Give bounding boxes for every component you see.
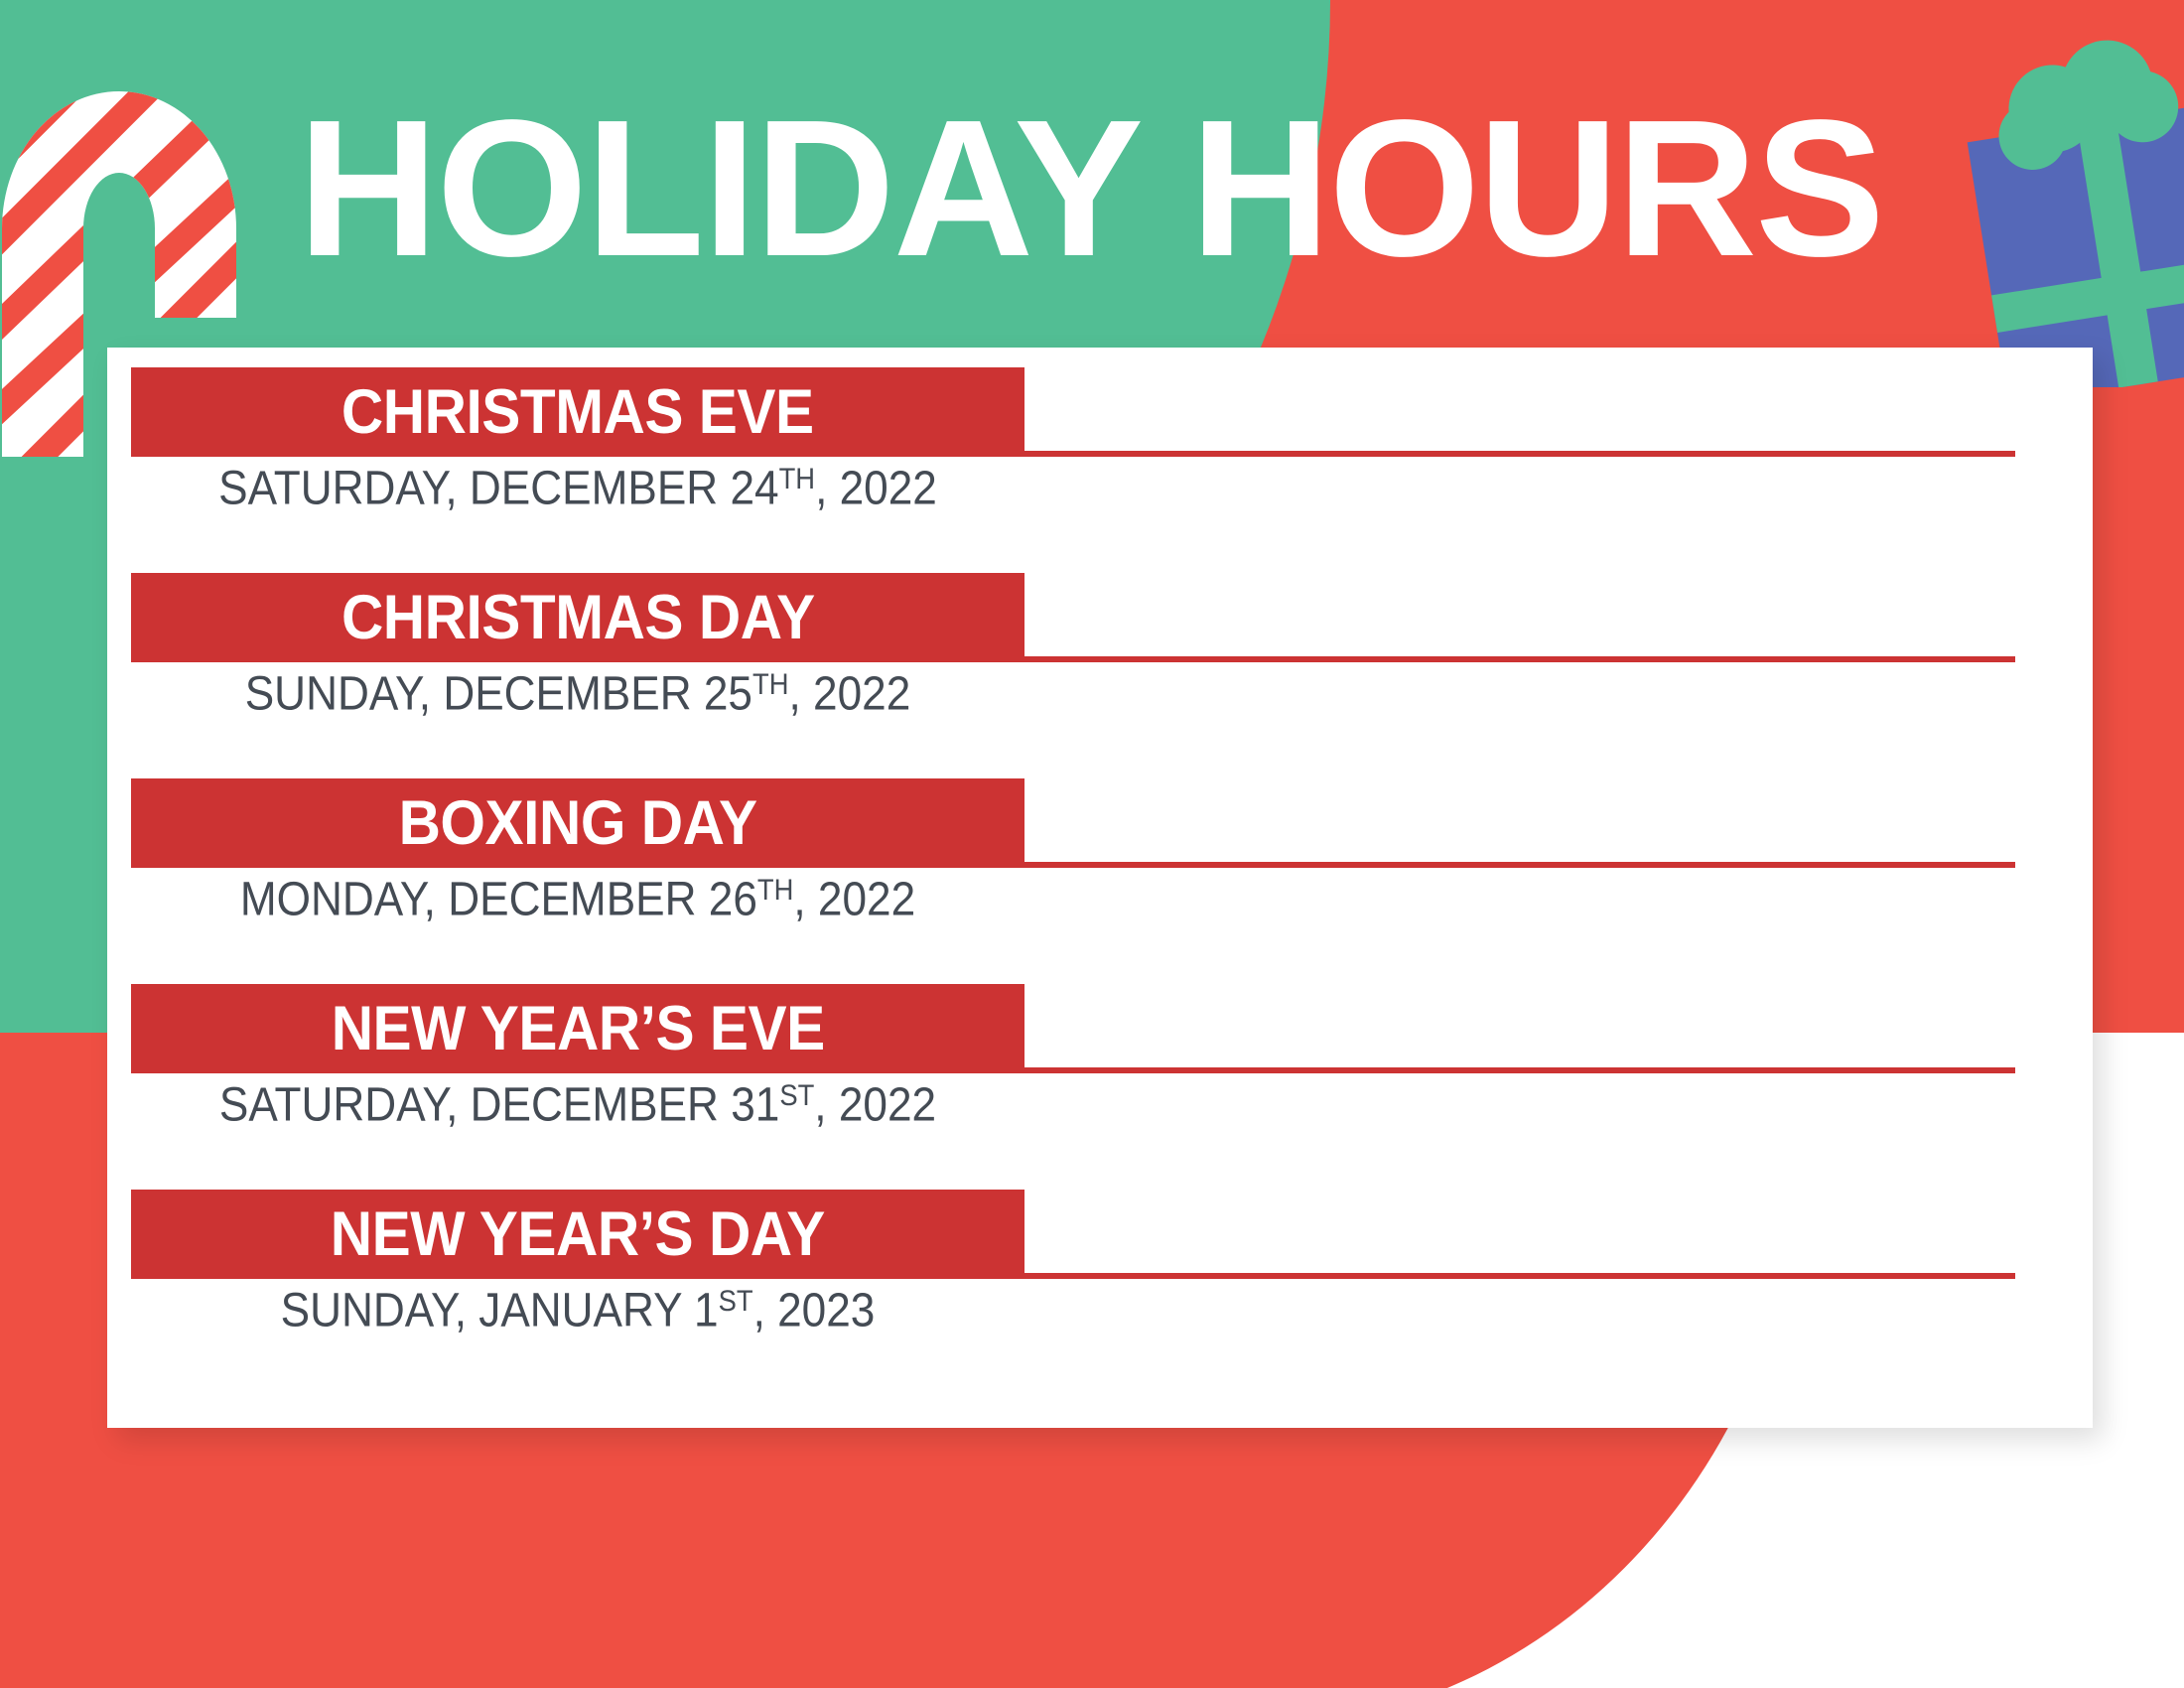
schedule-rows: CHRISTMAS EVESATURDAY, DECEMBER 24TH, 20… bbox=[107, 348, 2093, 1375]
holiday-name-label: CHRISTMAS EVE bbox=[341, 381, 814, 444]
hours-write-in-line[interactable] bbox=[1024, 1273, 2015, 1279]
holiday-name-label: NEW YEAR’S DAY bbox=[331, 1203, 825, 1266]
holiday-name-label: CHRISTMAS DAY bbox=[341, 587, 815, 649]
holiday-date-label: SUNDAY, JANUARY 1ST, 2023 bbox=[167, 1287, 989, 1335]
holiday-date-label: SATURDAY, DECEMBER 24TH, 2022 bbox=[167, 465, 989, 512]
holiday-name-label: NEW YEAR’S EVE bbox=[331, 998, 824, 1060]
holiday-date-label: MONDAY, DECEMBER 26TH, 2022 bbox=[167, 876, 989, 923]
holiday-name-band: CHRISTMAS DAY bbox=[131, 573, 1024, 662]
holiday-name-band: CHRISTMAS EVE bbox=[131, 367, 1024, 457]
hours-write-in-line[interactable] bbox=[1024, 862, 2015, 868]
schedule-row: CHRISTMAS EVESATURDAY, DECEMBER 24TH, 20… bbox=[107, 348, 2093, 553]
schedule-row: NEW YEAR’S DAYSUNDAY, JANUARY 1ST, 2023 bbox=[107, 1170, 2093, 1375]
holiday-hours-poster: HOLIDAY HOURS CHRISTMAS EVESATURDAY, DEC… bbox=[0, 0, 2184, 1688]
holiday-date-label: SUNDAY, DECEMBER 25TH, 2022 bbox=[167, 670, 989, 718]
schedule-row: BOXING DAYMONDAY, DECEMBER 26TH, 2022 bbox=[107, 759, 2093, 964]
holiday-name-label: BOXING DAY bbox=[398, 792, 756, 855]
schedule-row: NEW YEAR’S EVESATURDAY, DECEMBER 31ST, 2… bbox=[107, 964, 2093, 1170]
hours-write-in-line[interactable] bbox=[1024, 1067, 2015, 1073]
holiday-date-label: SATURDAY, DECEMBER 31ST, 2022 bbox=[167, 1081, 989, 1129]
holiday-name-band: BOXING DAY bbox=[131, 778, 1024, 868]
holiday-name-band: NEW YEAR’S DAY bbox=[131, 1190, 1024, 1279]
schedule-row: CHRISTMAS DAYSUNDAY, DECEMBER 25TH, 2022 bbox=[107, 553, 2093, 759]
gift-box-icon bbox=[1961, 30, 2184, 387]
hours-write-in-line[interactable] bbox=[1024, 656, 2015, 662]
hours-write-in-line[interactable] bbox=[1024, 451, 2015, 457]
page-title: HOLIDAY HOURS bbox=[298, 91, 1936, 286]
holiday-name-band: NEW YEAR’S EVE bbox=[131, 984, 1024, 1073]
schedule-card: CHRISTMAS EVESATURDAY, DECEMBER 24TH, 20… bbox=[107, 348, 2093, 1428]
